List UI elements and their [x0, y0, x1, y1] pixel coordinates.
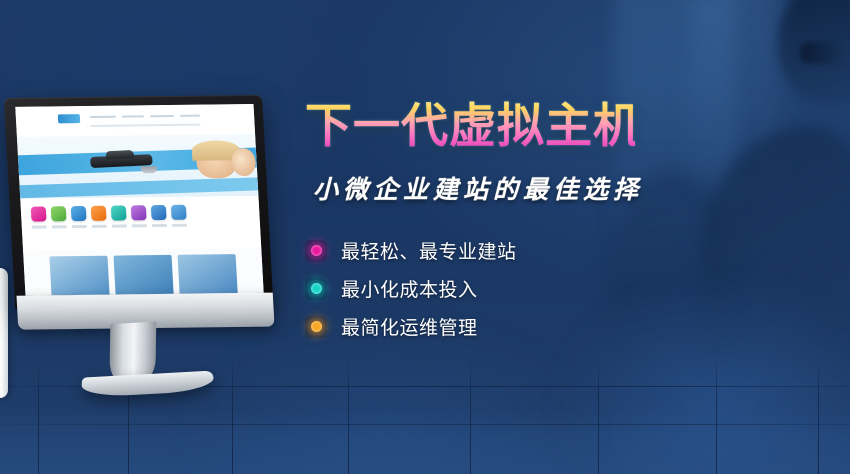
preview-thumbnail [49, 256, 109, 296]
monitor-bezel [4, 95, 274, 310]
preview-car-image [90, 149, 153, 176]
page-title: 下一代虚拟主机 [305, 100, 635, 153]
floor-vertical-line [470, 362, 471, 474]
preview-nav-line [90, 124, 200, 127]
person-glasses-shape [800, 42, 850, 64]
hero-text-column: 下一代虚拟主机 小微企业建站的最佳选择 最轻松、最专业建站 最小化成本投入 最简… [305, 100, 635, 346]
preview-app-icon [111, 205, 127, 220]
preview-app-icon-row [31, 205, 187, 222]
left-device-edge [0, 268, 8, 398]
preview-app-icon [151, 205, 167, 220]
preview-nav-line [180, 115, 200, 117]
preview-thumbnail [113, 255, 173, 296]
preview-thumbnail [178, 254, 238, 296]
floor-vertical-line [598, 362, 599, 474]
preview-site-logo [58, 114, 81, 123]
feature-label: 最小化成本投入 [341, 275, 478, 302]
preview-app-icon [171, 205, 187, 220]
feature-list: 最轻松、最专业建站 最小化成本投入 最简化运维管理 [305, 232, 635, 346]
preview-thumbnail-section [23, 248, 264, 296]
preview-site-header [15, 104, 255, 137]
preview-hero-banner [17, 134, 259, 199]
preview-app-icon [51, 206, 67, 221]
preview-app-icon [91, 206, 107, 221]
bullet-dot-icon [305, 278, 327, 300]
preview-nav-line [90, 116, 116, 118]
preview-nav-line [122, 115, 144, 117]
hero-banner: 下一代虚拟主机 小微企业建站的最佳选择 最轻松、最专业建站 最小化成本投入 最简… [0, 0, 850, 474]
website-preview-icon [15, 104, 263, 296]
list-item: 最简化运维管理 [305, 308, 635, 346]
preview-app-icon [131, 205, 147, 220]
floor-vertical-line [818, 362, 819, 474]
feature-label: 最轻松、最专业建站 [341, 237, 517, 264]
feature-label: 最简化运维管理 [341, 313, 478, 340]
list-item: 最小化成本投入 [305, 270, 635, 308]
bullet-dot-icon [305, 316, 327, 338]
preview-app-icon [31, 206, 47, 221]
bullet-dot-icon [305, 240, 327, 262]
preview-nav-line [150, 115, 174, 117]
floor-vertical-line [716, 362, 717, 474]
list-item: 最轻松、最专业建站 [305, 232, 635, 270]
preview-icon-section [20, 196, 261, 251]
imac-monitor-icon [4, 89, 288, 403]
floor-vertical-line [348, 362, 349, 474]
page-subtitle: 小微企业建站的最佳选择 [313, 170, 635, 206]
preview-icon-captions [32, 223, 250, 229]
preview-app-icon [71, 206, 87, 221]
